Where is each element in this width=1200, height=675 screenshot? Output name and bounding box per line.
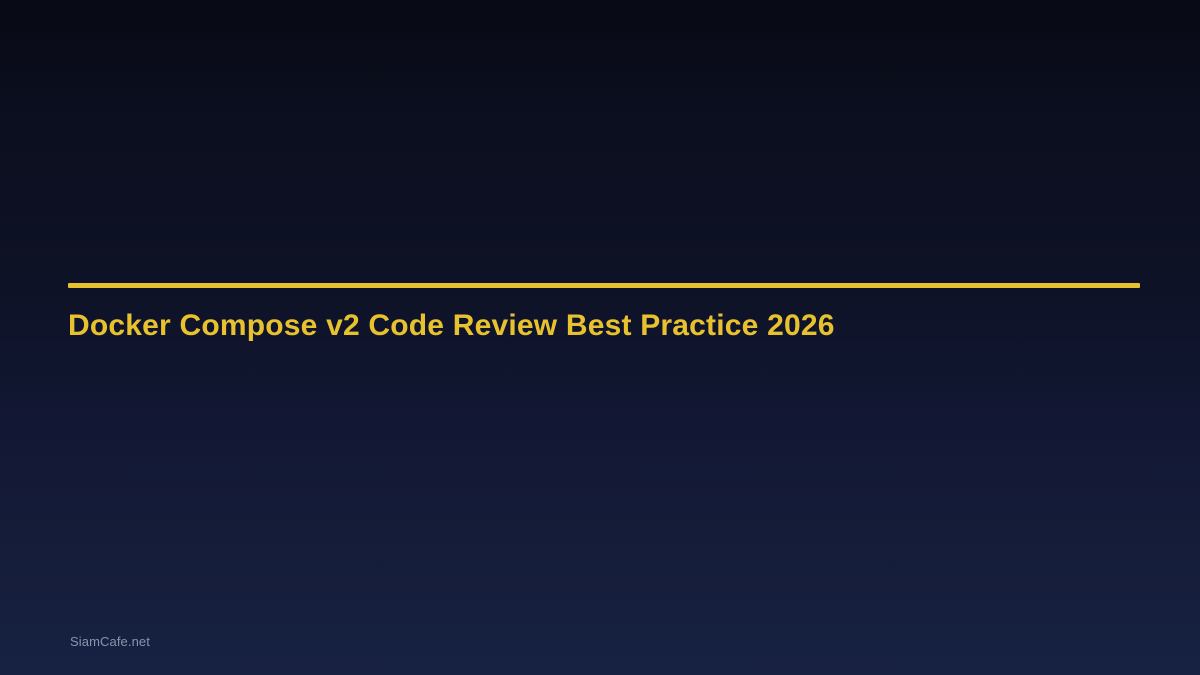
slide-canvas: Docker Compose v2 Code Review Best Pract… xyxy=(0,0,1200,675)
footer-brand-label: SiamCafe.net xyxy=(70,634,150,649)
footer: SiamCafe.net xyxy=(70,633,150,651)
page-title: Docker Compose v2 Code Review Best Pract… xyxy=(68,307,1140,345)
title-block: Docker Compose v2 Code Review Best Pract… xyxy=(68,283,1140,345)
accent-rule-divider xyxy=(68,283,1140,288)
